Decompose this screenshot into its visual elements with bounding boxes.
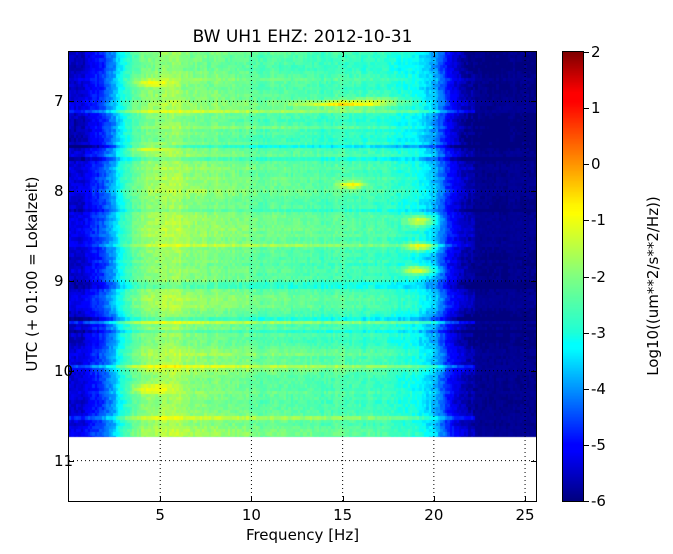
colorbar-tick-label: -1	[591, 211, 606, 229]
colorbar-tick	[584, 445, 589, 446]
colorbar-tick-label: -4	[591, 380, 606, 398]
colorbar[interactable]	[562, 51, 584, 502]
x-tick	[434, 496, 435, 501]
x-axis-label: Frequency [Hz]	[68, 526, 537, 544]
y-tick-right	[531, 191, 536, 192]
x-tick	[525, 496, 526, 501]
page-title: BW UH1 EHZ: 2012-10-31	[0, 27, 605, 47]
x-tick	[343, 496, 344, 501]
x-tick-label: 10	[242, 506, 261, 524]
y-tick-right	[531, 101, 536, 102]
colorbar-tick	[584, 52, 589, 53]
x-tick	[251, 496, 252, 501]
x-tick-top	[525, 52, 526, 57]
colorbar-gradient	[563, 52, 583, 501]
x-tick-label: 5	[155, 506, 165, 524]
x-tick-label: 25	[516, 506, 535, 524]
colorbar-tick-label: -5	[591, 436, 606, 454]
x-tick-top	[343, 52, 344, 57]
x-tick-label: 15	[333, 506, 352, 524]
colorbar-tick-label: 1	[591, 99, 601, 117]
y-tick-right	[531, 371, 536, 372]
spectrogram-image	[69, 52, 536, 501]
y-axis-label: UTC (+ 01:00 = Lokalzeit)	[23, 154, 41, 394]
x-tick-label: 20	[424, 506, 443, 524]
colorbar-tick-label: -6	[591, 492, 606, 510]
colorbar-tick	[584, 108, 589, 109]
colorbar-tick-label: 0	[591, 155, 601, 173]
x-tick-top	[160, 52, 161, 57]
colorbar-tick	[584, 164, 589, 165]
colorbar-tick	[584, 389, 589, 390]
y-tick-right	[531, 461, 536, 462]
x-tick	[160, 496, 161, 501]
y-tick	[69, 191, 74, 192]
x-tick-top	[251, 52, 252, 57]
x-tick-top	[434, 52, 435, 57]
colorbar-tick-label: 2	[591, 43, 601, 61]
colorbar-tick-label: -3	[591, 324, 606, 342]
spectrogram-figure: BW UH1 EHZ: 2012-10-31 510152025 7891011…	[0, 0, 673, 554]
colorbar-tick-label: -2	[591, 268, 606, 286]
colorbar-label: Log10((um**2/s**2/Hz))	[644, 156, 662, 416]
spectrogram-axes[interactable]	[68, 51, 537, 502]
y-tick-right	[531, 281, 536, 282]
colorbar-tick	[584, 220, 589, 221]
y-tick	[69, 281, 74, 282]
colorbar-tick	[584, 333, 589, 334]
y-tick	[69, 101, 74, 102]
colorbar-tick	[584, 277, 589, 278]
colorbar-tick	[584, 501, 589, 502]
